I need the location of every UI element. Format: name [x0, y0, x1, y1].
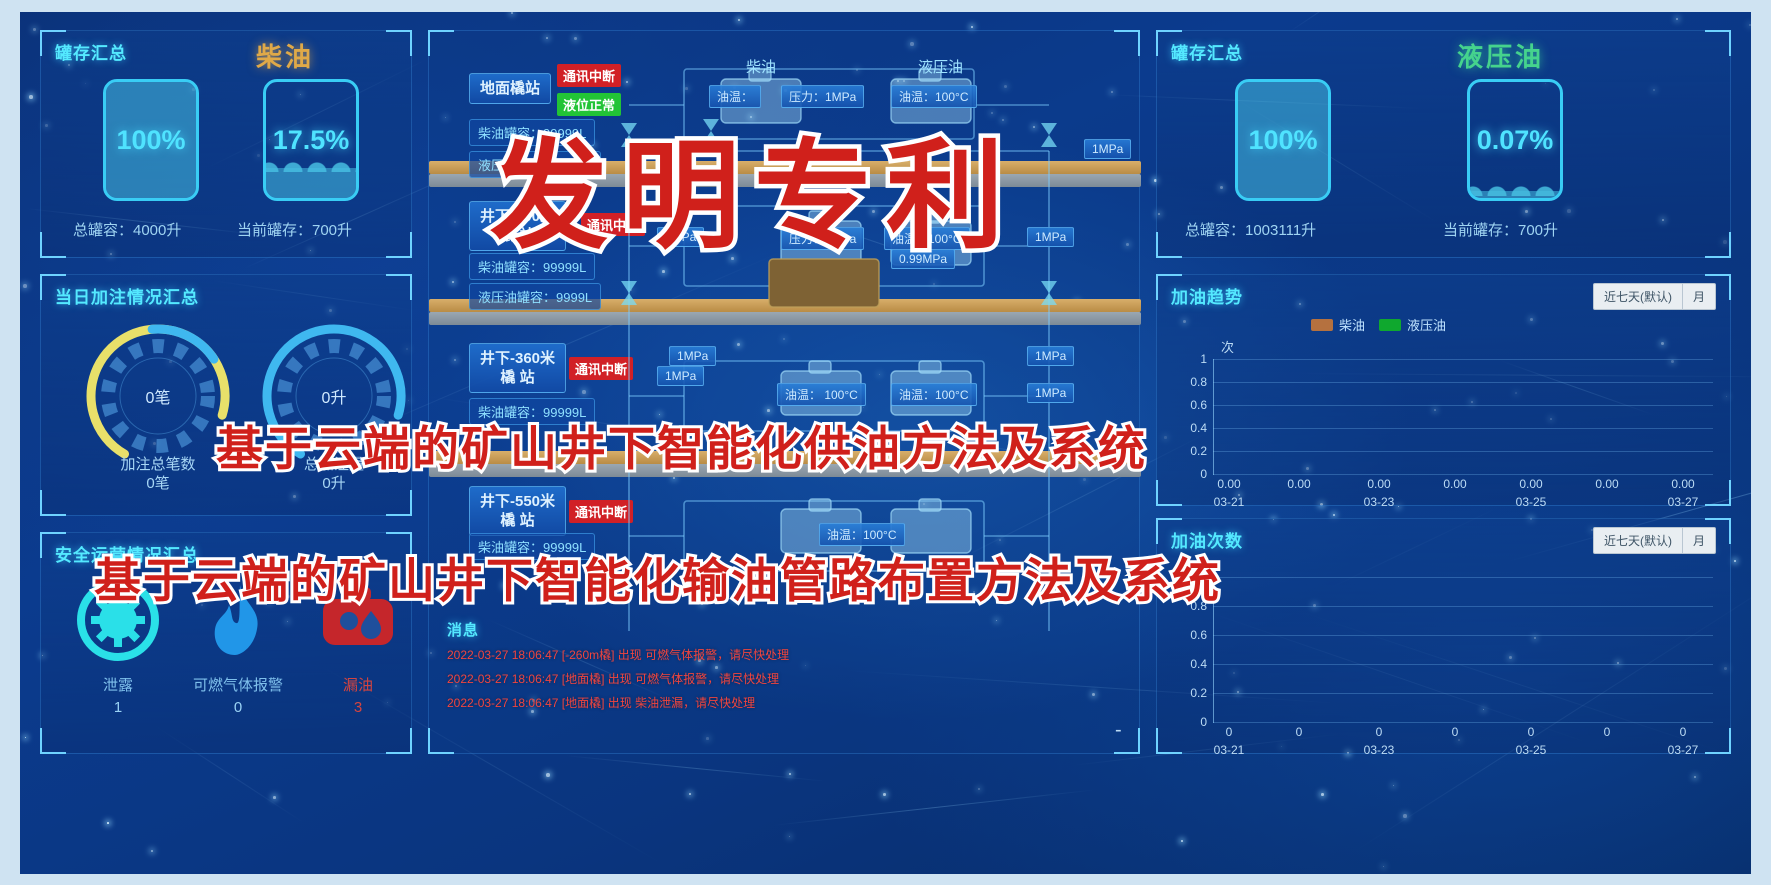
- legend-item-hydraulic[interactable]: 液压油: [1379, 315, 1446, 334]
- gridline: [1213, 577, 1713, 578]
- x-tick: 03-27: [1663, 743, 1703, 757]
- message-row: 2022-03-27 18:06:47 [-260m橇] 出现 可燃气体报警，请…: [447, 646, 789, 663]
- tank-caption-total: 总罐容：4000升: [73, 219, 181, 240]
- gridline: [1213, 635, 1713, 636]
- tank-caption-current: 当前罐存：700升: [237, 219, 352, 240]
- point-label: 0: [1435, 725, 1475, 739]
- corner-decor: [1705, 480, 1731, 506]
- y-axis: [1213, 359, 1214, 475]
- legend-item-diesel[interactable]: 柴油: [1311, 315, 1365, 334]
- watermark-title: 发明专利: [490, 100, 1018, 271]
- gridline: [1213, 359, 1713, 360]
- gauge-refuel-count: 0笔: [83, 321, 233, 471]
- gauge-caption-sub: 0笔: [146, 475, 169, 492]
- tank-gauge-current: 0.07%: [1467, 79, 1563, 201]
- pressure-tag: 1MPa: [669, 346, 716, 366]
- point-label: 0: [1359, 725, 1399, 739]
- y-tick: 0: [1179, 467, 1207, 481]
- chart-legend: 柴油 液压油: [1311, 315, 1446, 334]
- corner-decor: [428, 728, 454, 754]
- gauge-caption-label: 加注总笔数: [120, 456, 195, 473]
- corner-decor: [40, 490, 66, 516]
- trend-range-toggle[interactable]: 近七天(默认) 月: [1593, 283, 1716, 310]
- gridline: [1213, 693, 1713, 694]
- tank-gauge-total: 100%: [103, 79, 199, 201]
- corner-decor: [386, 274, 412, 300]
- legend-label-diesel: 柴油: [1339, 315, 1365, 334]
- gridline: [1213, 451, 1713, 452]
- zoom-out-button[interactable]: -: [1115, 719, 1122, 742]
- gridline: [1213, 722, 1713, 723]
- toggle-option-month[interactable]: 月: [1682, 528, 1715, 553]
- corner-decor: [1156, 728, 1182, 754]
- gauge-value: 0笔: [83, 321, 233, 471]
- y-tick: 0.4: [1179, 657, 1207, 671]
- pressure-tag: 1MPa: [1027, 346, 1074, 366]
- watermark-line-2: 基于云端的矿山井下智能化输油管路布置方法及系统: [94, 542, 1221, 611]
- message-row: 2022-03-27 18:06:47 [地面橇] 出现 可燃气体报警，请尽快处…: [447, 670, 779, 687]
- refuel-count-panel: 加油次数 近七天(默认) 月 1 0.8 0.6 0.4 0.2 0 0 0 0…: [1156, 518, 1731, 754]
- tank-caption-current: 当前罐存：700升: [1443, 219, 1558, 240]
- corner-decor: [386, 490, 412, 516]
- safety-value: 0: [173, 699, 303, 716]
- corner-decor: [1705, 30, 1731, 56]
- watermark-line-1: 基于云端的矿山井下智能化供油方法及系统: [216, 410, 1147, 479]
- safety-value: 3: [293, 699, 423, 716]
- point-label: 0.00: [1587, 477, 1627, 491]
- message-row: 2022-03-27 18:06:47 [地面橇] 出现 柴油泄漏，请尽快处理: [447, 694, 755, 711]
- gridline: [1213, 428, 1713, 429]
- tank-percent: 100%: [116, 125, 185, 156]
- point-label: 0: [1279, 725, 1319, 739]
- pressure-tag: 1MPa: [1084, 139, 1131, 159]
- trend-chart-plot: 1 0.8 0.6 0.4 0.2 0 0.00 0.00 0.00 0.00 …: [1213, 359, 1713, 477]
- y-tick: 0.6: [1179, 628, 1207, 642]
- toggle-option-week[interactable]: 近七天(默认): [1594, 528, 1682, 553]
- toggle-option-month[interactable]: 月: [1682, 284, 1715, 309]
- x-tick: 03-21: [1209, 495, 1249, 509]
- safety-label: 漏油: [293, 674, 423, 695]
- x-tick: 03-27: [1663, 495, 1703, 509]
- legend-swatch-hydraulic: [1379, 319, 1401, 331]
- messages-title: 消息: [447, 619, 479, 640]
- legend-swatch-diesel: [1311, 319, 1333, 331]
- corner-decor: [386, 728, 412, 754]
- x-tick: 03-25: [1511, 495, 1551, 509]
- y-tick: 0.6: [1179, 398, 1207, 412]
- panel-title: 罐存汇总: [55, 39, 127, 64]
- point-label: 0.00: [1511, 477, 1551, 491]
- point-label: 0: [1587, 725, 1627, 739]
- y-tick: 0.2: [1179, 444, 1207, 458]
- point-label: 0.00: [1435, 477, 1475, 491]
- right-tank-summary-panel: 罐存汇总 液压油 100% 总罐容：1003111升 0.07% 当前罐存：70…: [1156, 30, 1731, 258]
- pressure-tag: 1MPa: [1027, 227, 1074, 247]
- point-label: 0.00: [1209, 477, 1249, 491]
- gridline: [1213, 606, 1713, 607]
- point-label: 0: [1209, 725, 1249, 739]
- gauge-caption-count: 加注总笔数 0笔: [78, 455, 238, 493]
- legend-label-hydraulic: 液压油: [1407, 315, 1446, 334]
- tank-caption-total: 总罐容：1003111升: [1185, 219, 1316, 240]
- count-chart-plot: 1 0.8 0.6 0.4 0.2 0 0 0 0 0 0 0 0 03-21 …: [1213, 577, 1713, 727]
- y-tick: 0.4: [1179, 421, 1207, 435]
- refuel-trend-panel: 加油趋势 近七天(默认) 月 柴油 液压油 次 1 0.8: [1156, 274, 1731, 506]
- point-label: 0.00: [1359, 477, 1399, 491]
- point-label: 0.00: [1279, 477, 1319, 491]
- corner-decor: [40, 728, 66, 754]
- x-tick: 03-23: [1359, 495, 1399, 509]
- tank-gauge-current: 17.5%: [263, 79, 359, 201]
- product-label-diesel: 柴油: [256, 37, 314, 74]
- tank-percent: 100%: [1248, 125, 1317, 156]
- y-tick: 0: [1179, 715, 1207, 729]
- gridline: [1213, 474, 1713, 475]
- corner-decor: [386, 232, 412, 258]
- tank-percent: 17.5%: [273, 125, 350, 156]
- x-tick: 03-25: [1511, 743, 1551, 757]
- safety-label: 泄露: [53, 674, 183, 695]
- corner-decor: [1156, 480, 1182, 506]
- y-tick: 0.8: [1179, 375, 1207, 389]
- x-tick: 03-21: [1209, 743, 1249, 757]
- point-label: 0: [1511, 725, 1551, 739]
- tank-wave: [263, 156, 359, 172]
- chart-ylabel: 次: [1221, 337, 1234, 356]
- panel-title: 罐存汇总: [1171, 39, 1243, 64]
- corner-decor: [40, 232, 66, 258]
- tank-percent: 0.07%: [1477, 125, 1554, 156]
- gridline: [1213, 405, 1713, 406]
- toggle-option-week[interactable]: 近七天(默认): [1594, 284, 1682, 309]
- gridline: [1213, 664, 1713, 665]
- point-label: 0.00: [1663, 477, 1703, 491]
- y-tick: 0.2: [1179, 686, 1207, 700]
- tank-wave: [1467, 180, 1563, 196]
- left-tank-summary-panel: 罐存汇总 柴油 100% 总罐容：4000升 17.5% 当前罐存：700升: [40, 30, 412, 258]
- product-label-hydraulic: 液压油: [1457, 37, 1544, 74]
- safety-value: 1: [53, 699, 183, 716]
- gridline: [1213, 382, 1713, 383]
- count-range-toggle[interactable]: 近七天(默认) 月: [1593, 527, 1716, 554]
- point-label: 0: [1663, 725, 1703, 739]
- corner-decor: [386, 30, 412, 56]
- pressure-tag: 1MPa: [657, 366, 704, 386]
- label-hydraulic-head: 液压油: [911, 53, 970, 80]
- y-tick: 1: [1179, 352, 1207, 366]
- corner-decor: [1705, 232, 1731, 258]
- daily-refuel-panel: 当日加注情况汇总 0笔 加注总笔数 0笔 0升 总加注量 0升: [40, 274, 412, 516]
- panel-title: 当日加注情况汇总: [55, 283, 199, 308]
- tank-gauge-total: 100%: [1235, 79, 1331, 201]
- x-tick: 03-23: [1359, 743, 1399, 757]
- pressure-tag: 1MPa: [1027, 383, 1074, 403]
- pressure-tag: 油温：100°C: [891, 383, 977, 406]
- pressure-tag: 油温： 100°C: [777, 383, 866, 406]
- corner-decor: [1705, 728, 1731, 754]
- dashboard-stage: 罐存汇总 柴油 100% 总罐容：4000升 17.5% 当前罐存：700升 当…: [20, 12, 1751, 874]
- safety-label: 可燃气体报警: [173, 674, 303, 695]
- corner-decor: [1156, 232, 1182, 258]
- label-diesel-head: 柴油: [739, 53, 783, 80]
- panel-title: 加油趋势: [1171, 283, 1243, 308]
